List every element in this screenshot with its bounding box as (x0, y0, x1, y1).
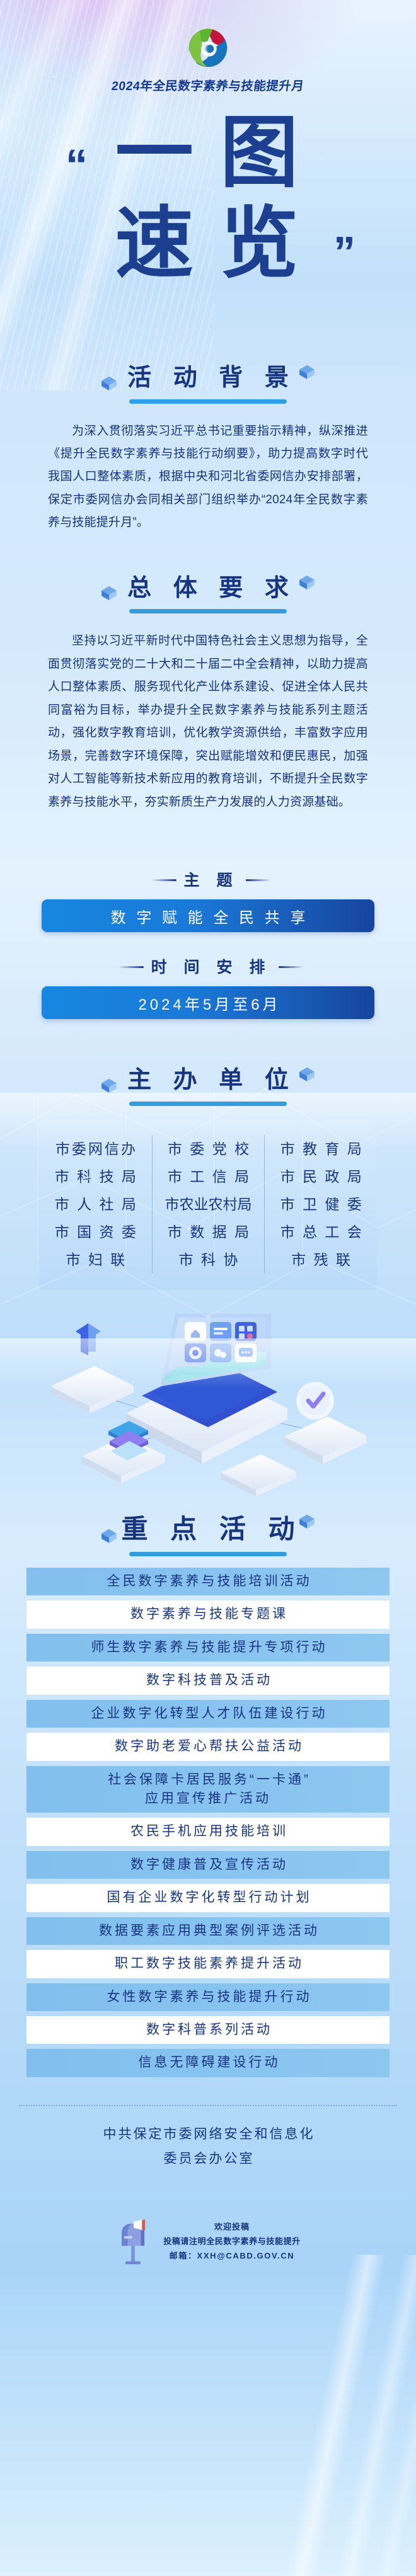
organizer-name: 市 数 据 局 (156, 1218, 261, 1246)
poster-root: 2024年全民数字素养与技能提升月 “ 一 图 速 览 ” 活 动 背 景 为深… (0, 0, 416, 2576)
quote-close: ” (333, 230, 355, 274)
arrow-up-icon (76, 1323, 101, 1355)
organizer-name: 市 总 工 会 (269, 1218, 373, 1246)
hero-title: “ 一 图 速 览 ” (0, 110, 416, 318)
organizer-name: 市 教 育 局 (269, 1135, 373, 1163)
activity-row[interactable]: 师生数字素养与技能提升专项行动 (26, 1634, 390, 1661)
organizer-name: 市 科 协 (156, 1246, 261, 1274)
activity-label: 国有企业数字化转型行动计划 (105, 1888, 312, 1907)
cube-icon (98, 1525, 120, 1546)
organizer-name: 市 工 信 局 (156, 1163, 261, 1190)
theme-label-row: 主 题 (0, 868, 416, 891)
activity-label: 信息无障碍建设行动 (136, 2053, 280, 2072)
cube-icon (296, 361, 318, 382)
submission-line-1: 欢迎投稿 (163, 2220, 301, 2235)
theme-label: 主 题 (184, 872, 239, 889)
submission-banner: 欢迎投稿 投稿请注明全民数字素养与技能提升 邮箱：XXH@CABD.GOV.CN (0, 2204, 416, 2280)
cube-icon (296, 1063, 318, 1085)
dash-right (246, 879, 271, 881)
theme-value-pill: 数 字 赋 能 全 民 共 享 (42, 899, 374, 932)
issuing-authority-line-1: 中共保定市委网络安全和信息化 (0, 2123, 416, 2147)
platform (50, 1366, 134, 1413)
organizers-grid: 市委网信办市 科 技 局市 人 社 局市 国 资 委市 妇 联市 委 党 校市 … (39, 1135, 377, 1274)
submission-line-2: 投稿请注明全民数字素养与技能提升 (163, 2235, 301, 2249)
cube-icon (296, 571, 318, 593)
dash-left (151, 879, 176, 881)
check-badge-icon (296, 1382, 334, 1420)
footer-divider (19, 2105, 397, 2106)
section-heading-key-activities: 重 点 活 动 (69, 1513, 347, 1556)
activity-row[interactable]: 数字科技普及活动 (26, 1667, 390, 1694)
issuing-authority: 中共保定市委网络安全和信息化 委员会办公室 (0, 2123, 416, 2172)
activity-label: 农民手机应用技能培训 (128, 1822, 288, 1841)
organizers-column: 市委网信办市 科 技 局市 人 社 局市 国 资 委市 妇 联 (39, 1135, 152, 1274)
organizer-name: 市 卫 健 委 (269, 1190, 373, 1218)
activity-label: 师生数字素养与技能提升专项行动 (89, 1638, 328, 1657)
organizers-column: 市 教 育 局市 民 政 局市 卫 健 委市 总 工 会市 残 联 (264, 1135, 377, 1274)
organizer-name: 市委网信办 (43, 1135, 148, 1163)
activity-row[interactable]: 职工数字技能素养提升活动 (26, 1950, 390, 1978)
organizer-name: 市 委 党 校 (156, 1135, 261, 1163)
schedule-label-row: 时 间 安 排 (0, 955, 416, 977)
organizer-name: 市 民 政 局 (269, 1163, 373, 1190)
section-underline (129, 399, 287, 404)
issuing-authority-line-2: 委员会办公室 (0, 2147, 416, 2172)
activity-row[interactable]: 数字科普系列活动 (26, 2016, 390, 2044)
activity-row[interactable]: 数据要素应用典型案例评选活动 (26, 1917, 390, 1945)
organizer-name: 市农业农村局 (156, 1190, 261, 1218)
section-underline (129, 1552, 287, 1556)
cube-icon (98, 1074, 120, 1096)
organizer-name: 市 科 技 局 (43, 1163, 148, 1190)
activity-label: 数字助老爱心帮扶公益活动 (112, 1737, 304, 1756)
activity-label: 职工数字技能素养提升活动 (112, 1954, 304, 1973)
activity-row[interactable]: 企业数字化转型人才队伍建设行动 (26, 1700, 390, 1728)
organizer-name: 市 人 社 局 (43, 1190, 148, 1218)
activity-label: 数字科普系列活动 (144, 2020, 272, 2039)
section-heading-requirements: 总 体 要 求 (69, 574, 347, 614)
cube-icon (296, 1510, 318, 1532)
activity-label: 全民数字素养与技能培训活动 (105, 1572, 312, 1591)
organizer-name: 市 残 联 (269, 1246, 373, 1274)
schedule-value-pill: 2024年5月至6月 (42, 986, 374, 1019)
activity-label: 企业数字化转型人才队伍建设行动 (89, 1704, 328, 1723)
activity-label: 数据要素应用典型案例评选活动 (96, 1922, 320, 1941)
cube-icon (98, 582, 120, 603)
activity-row[interactable]: 全民数字素养与技能培训活动 (26, 1568, 390, 1595)
dash-right (279, 966, 304, 968)
activity-row[interactable]: 数字素养与技能专题课 (26, 1600, 390, 1628)
activity-row[interactable]: 数字助老爱心帮扶公益活动 (26, 1733, 390, 1760)
activity-label: 数字科技普及活动 (144, 1671, 272, 1690)
activity-row[interactable]: 农民手机应用技能培训 (26, 1818, 390, 1845)
activity-label: 社会保障卡居民服务“一卡通”应用宣传推广活动 (105, 1770, 311, 1809)
section-heading-organizers: 主 办 单 位 (69, 1066, 347, 1106)
organizer-name: 市 国 资 委 (43, 1218, 148, 1246)
background-paragraph: 为深入贯彻落实习近平总书记重要指示精神，纵深推进《提升全民数字素养与技能行动纲要… (48, 420, 368, 535)
brand-title: 2024年全民数字素养与技能提升月 (0, 76, 416, 94)
hero-title-line-1: 一 图 (0, 114, 416, 192)
requirements-paragraph: 坚持以习近平新时代中国特色社会主义思想为指导，全面贯彻落实党的二十大和二十届二中… (48, 630, 368, 814)
organizers-column: 市 委 党 校市 工 信 局市农业农村局市 数 据 局市 科 协 (152, 1135, 265, 1274)
dash-left (118, 966, 144, 968)
schedule-label: 时 间 安 排 (151, 959, 272, 976)
section-underline (129, 1102, 287, 1106)
submission-text: 欢迎投稿 投稿请注明全民数字素养与技能提升 邮箱：XXH@CABD.GOV.CN (163, 2220, 301, 2263)
activity-row[interactable]: 国有企业数字化转型行动计划 (26, 1884, 390, 1912)
activity-label: 女性数字素养与技能提升行动 (105, 1988, 312, 2007)
isometric-laptop-illustration (0, 1301, 416, 1509)
section-heading-background: 活 动 背 景 (69, 363, 347, 404)
activity-row[interactable]: 信息无障碍建设行动 (26, 2049, 390, 2077)
mailbox-icon (115, 2218, 152, 2266)
platform (221, 1454, 296, 1496)
key-activities-list: 全民数字素养与技能培训活动数字素养与技能专题课师生数字素养与技能提升专项行动数字… (26, 1568, 390, 2077)
theme-block: 主 题 数 字 赋 能 全 民 共 享 (0, 868, 416, 932)
submission-line-3: 邮箱：XXH@CABD.GOV.CN (163, 2249, 301, 2264)
digital-literacy-logo (185, 25, 231, 71)
background-sheen-bottom (240, 2255, 416, 2576)
platform (284, 1416, 367, 1464)
activity-label: 数字健康普及宣传活动 (128, 1855, 288, 1874)
poster-header: 2024年全民数字素养与技能提升月 (0, 0, 416, 94)
organizers-table: 市委网信办市 科 技 局市 人 社 局市 国 资 委市 妇 联市 委 党 校市 … (39, 1121, 377, 1291)
section-underline (129, 609, 287, 613)
activity-label: 数字素养与技能专题课 (128, 1605, 288, 1624)
cube-icon (98, 372, 120, 394)
activity-row[interactable]: 女性数字素养与技能提升行动 (26, 1983, 390, 2011)
organizer-name: 市 妇 联 (43, 1246, 148, 1274)
activity-row[interactable]: 数字健康普及宣传活动 (26, 1851, 390, 1879)
schedule-block: 时 间 安 排 2024年5月至6月 (0, 955, 416, 1019)
activity-row[interactable]: 社会保障卡居民服务“一卡通”应用宣传推广活动 (26, 1766, 390, 1813)
